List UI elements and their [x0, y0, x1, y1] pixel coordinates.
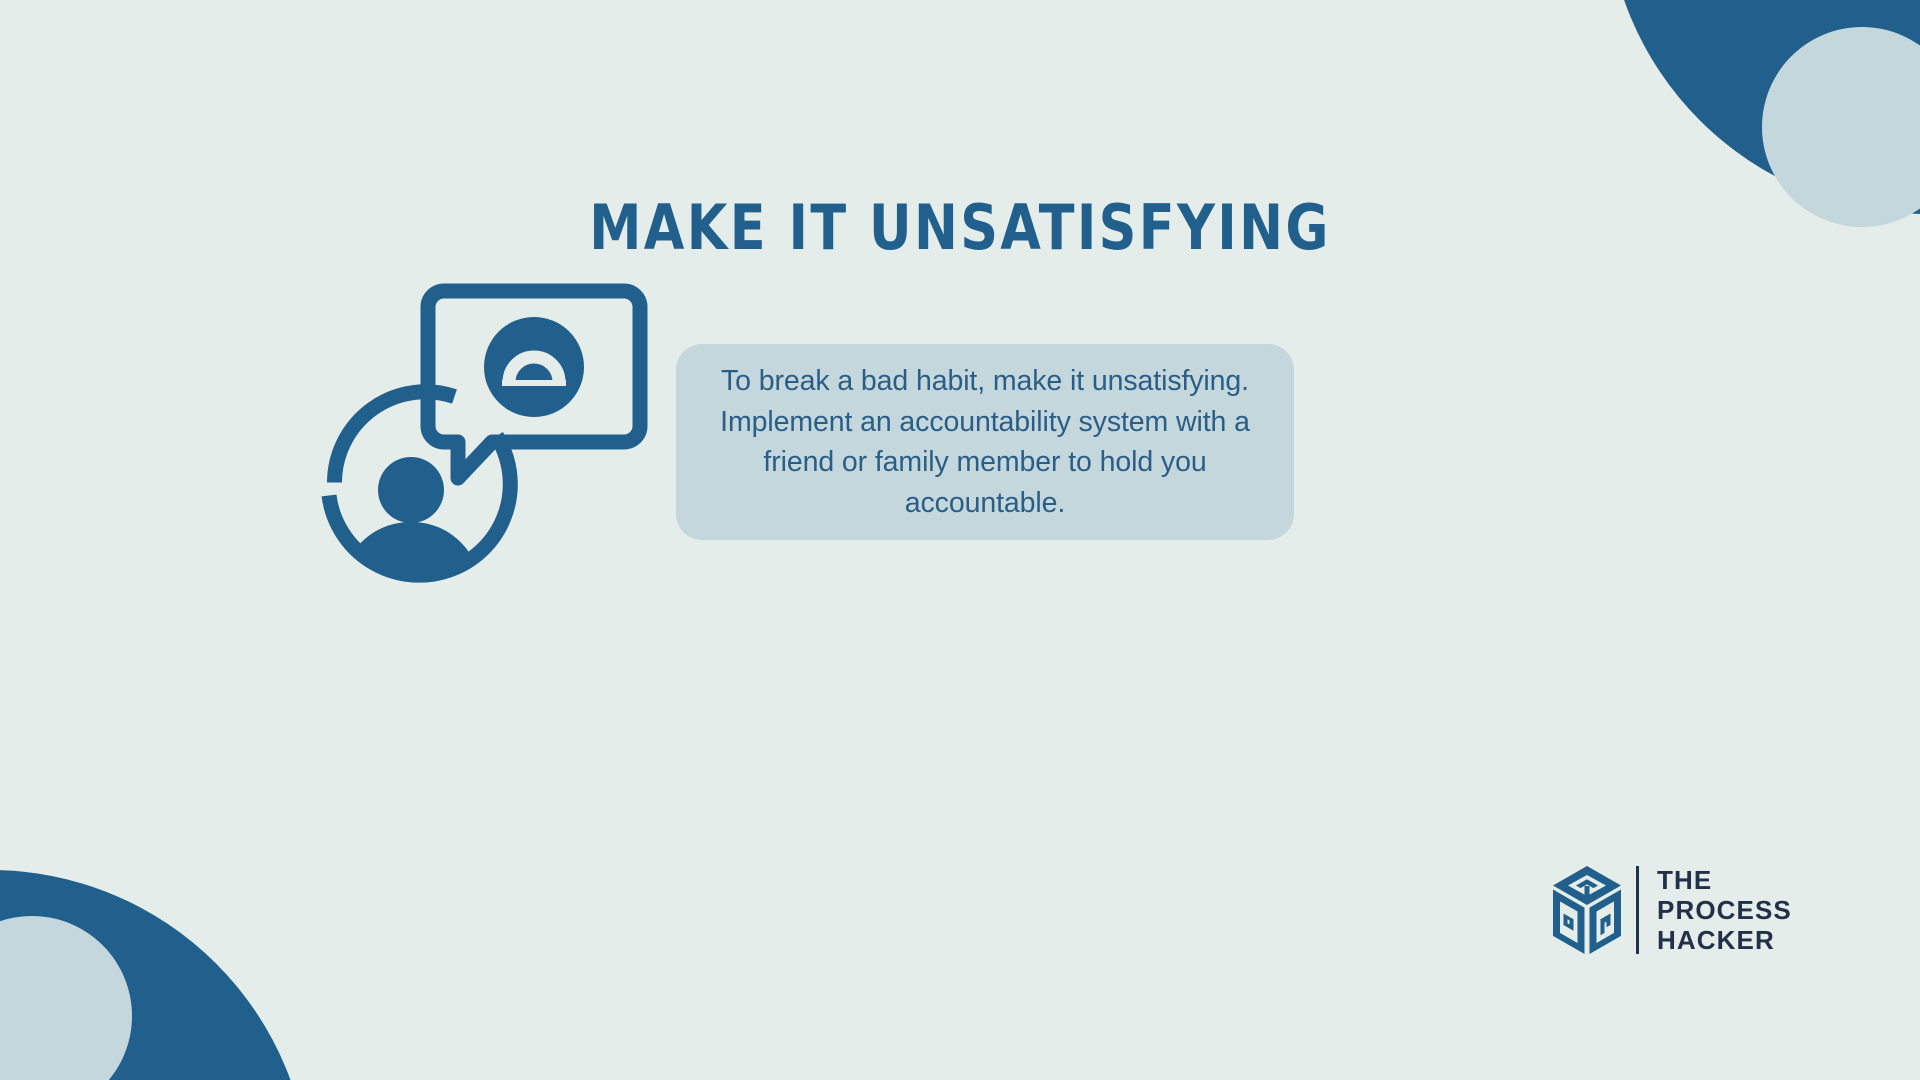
logo-wordmark: THE PROCESS HACKER	[1657, 865, 1792, 955]
body-text-card: To break a bad habit, make it unsatisfyi…	[676, 344, 1294, 540]
slide-canvas: MAKE IT UNSATISFYING	[0, 0, 1920, 1080]
brand-logo: THE PROCESS HACKER	[1551, 857, 1792, 963]
logo-divider	[1636, 866, 1639, 954]
logo-word-line-2: PROCESS	[1657, 895, 1792, 925]
sad-face-icon	[484, 317, 584, 417]
hexagon-cube-logo-mark	[1551, 864, 1623, 956]
body-text: To break a bad habit, make it unsatisfyi…	[706, 361, 1264, 523]
logo-word-line-3: HACKER	[1657, 925, 1792, 955]
slide-title: MAKE IT UNSATISFYING	[58, 192, 1863, 264]
speech-bubble-icon	[428, 291, 640, 478]
person-avatar-circle-icon	[329, 392, 510, 588]
person-with-sad-speech-bubble-illustration	[296, 282, 648, 588]
logo-word-line-1: THE	[1657, 865, 1792, 895]
